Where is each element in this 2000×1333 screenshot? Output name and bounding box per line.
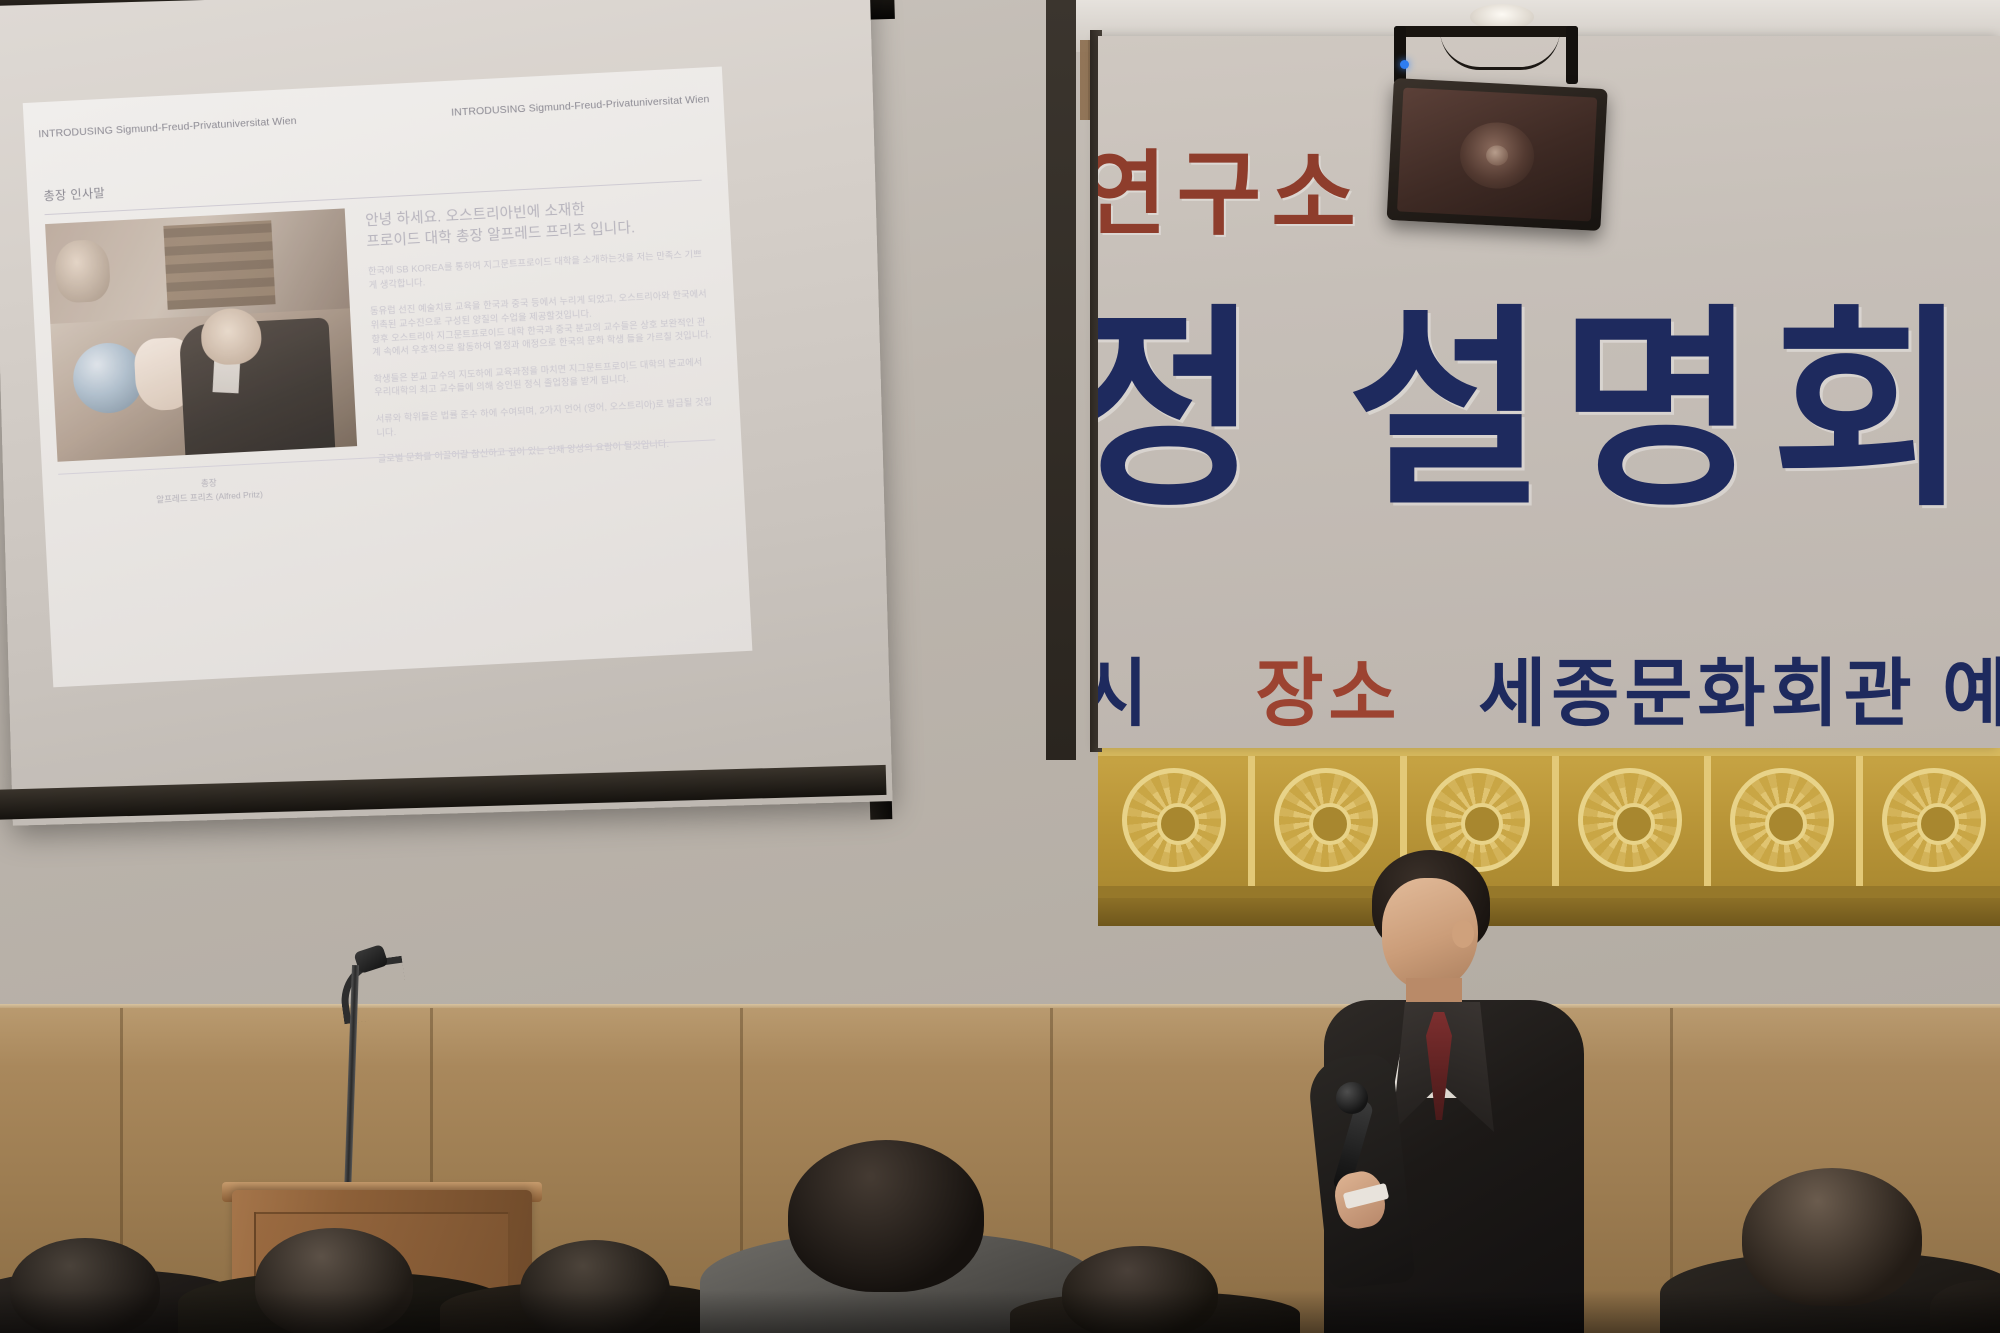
slide-photo (45, 208, 357, 461)
banner-place-label: 장소 (1255, 652, 1401, 735)
slide-lead-text: 안녕 하세요. 오스트리아빈에 소재한 프로이드 대학 총장 알프레드 프리츠 … (365, 194, 707, 253)
speaker-bracket-right (1566, 26, 1578, 84)
rosette-icon (1882, 768, 1986, 872)
slide-header-left: INTRODUSING Sigmund-Freud-Privatuniversi… (38, 115, 297, 141)
slide-section-title: 총장 인사말 (43, 184, 105, 204)
banner-line-top: 연구소 (1098, 120, 1366, 253)
slide-paragraph-4: 서류와 학위들은 법률 준수 하에 수여되며, 2가지 언어 (영어, 오스트리… (375, 395, 716, 440)
slide-body-column: 안녕 하세요. 오스트리아빈에 소재한 프로이드 대학 총장 알프레드 프리츠 … (365, 194, 718, 467)
slide-photo-top (45, 208, 350, 324)
frieze-divider (1856, 756, 1863, 886)
frieze-divider (1704, 756, 1711, 886)
rosette-icon (1122, 768, 1226, 872)
presentation-slide: INTRODUSING Sigmund-Freud-Privatuniversi… (23, 66, 753, 687)
speaker-bracket-left (1394, 26, 1406, 84)
screenshot-root: 연구소 정 설명회 시 장소 세종문화회관 예인홀 INTRODUSING Si… (0, 0, 2000, 1333)
speaker-grille (1397, 88, 1597, 222)
frieze-divider (1248, 756, 1255, 886)
slide-header: INTRODUSING Sigmund-Freud-Privatuniversi… (38, 93, 710, 140)
ceiling-loudspeaker (1387, 78, 1608, 231)
slide-caption: 총장 알프레드 프리츠 (Alfred Pritz) (59, 468, 360, 513)
globe-icon (71, 341, 145, 415)
banner-time-suffix: 시 (1098, 652, 1153, 735)
speaker-power-led-icon (1400, 60, 1409, 69)
presenter (1300, 850, 1630, 1333)
slide-paragraph-2: 동유럽 선진 예술치료 교육을 한국과 중국 등에서 누리게 되었고, 오스트리… (370, 288, 712, 360)
banner-line-main: 정 설명회 (1098, 236, 1983, 547)
projection-screen: INTRODUSING Sigmund-Freud-Privatuniversi… (0, 0, 893, 826)
microphone-capsule-icon (1336, 1082, 1368, 1114)
audience-head (1742, 1168, 1922, 1306)
rosette-icon (1730, 768, 1834, 872)
banner-line-bottom: 시 장소 세종문화회관 예인홀 (1098, 634, 2000, 741)
slide-paragraph-5: 글로벌 문화를 이끌어갈 참신하고 깊이 있는 인재 양성의 요람이 될것입니다… (378, 435, 718, 466)
presenter-ear (1452, 920, 1474, 948)
slide-paragraph-3: 학생들은 본교 교수의 지도하에 교육과정을 마치면 지그문트프로이드 대학의 … (373, 355, 714, 400)
slide-header-right: INTRODUSING Sigmund-Freud-Privatuniversi… (451, 93, 710, 119)
slide-photo-bottom (50, 308, 357, 462)
wall-dark-column (1046, 0, 1076, 760)
speaker-driver-icon (1458, 121, 1535, 191)
slide-paragraph-1: 한국에 SB KOREA를 통하여 지그문트프로이드 대학을 소개하는것을 저는… (368, 248, 709, 293)
foreground-shadow (0, 1290, 2000, 1333)
audience-head (788, 1140, 984, 1292)
banner-place-value: 세종문화회관 예인홀 (1478, 652, 2000, 735)
